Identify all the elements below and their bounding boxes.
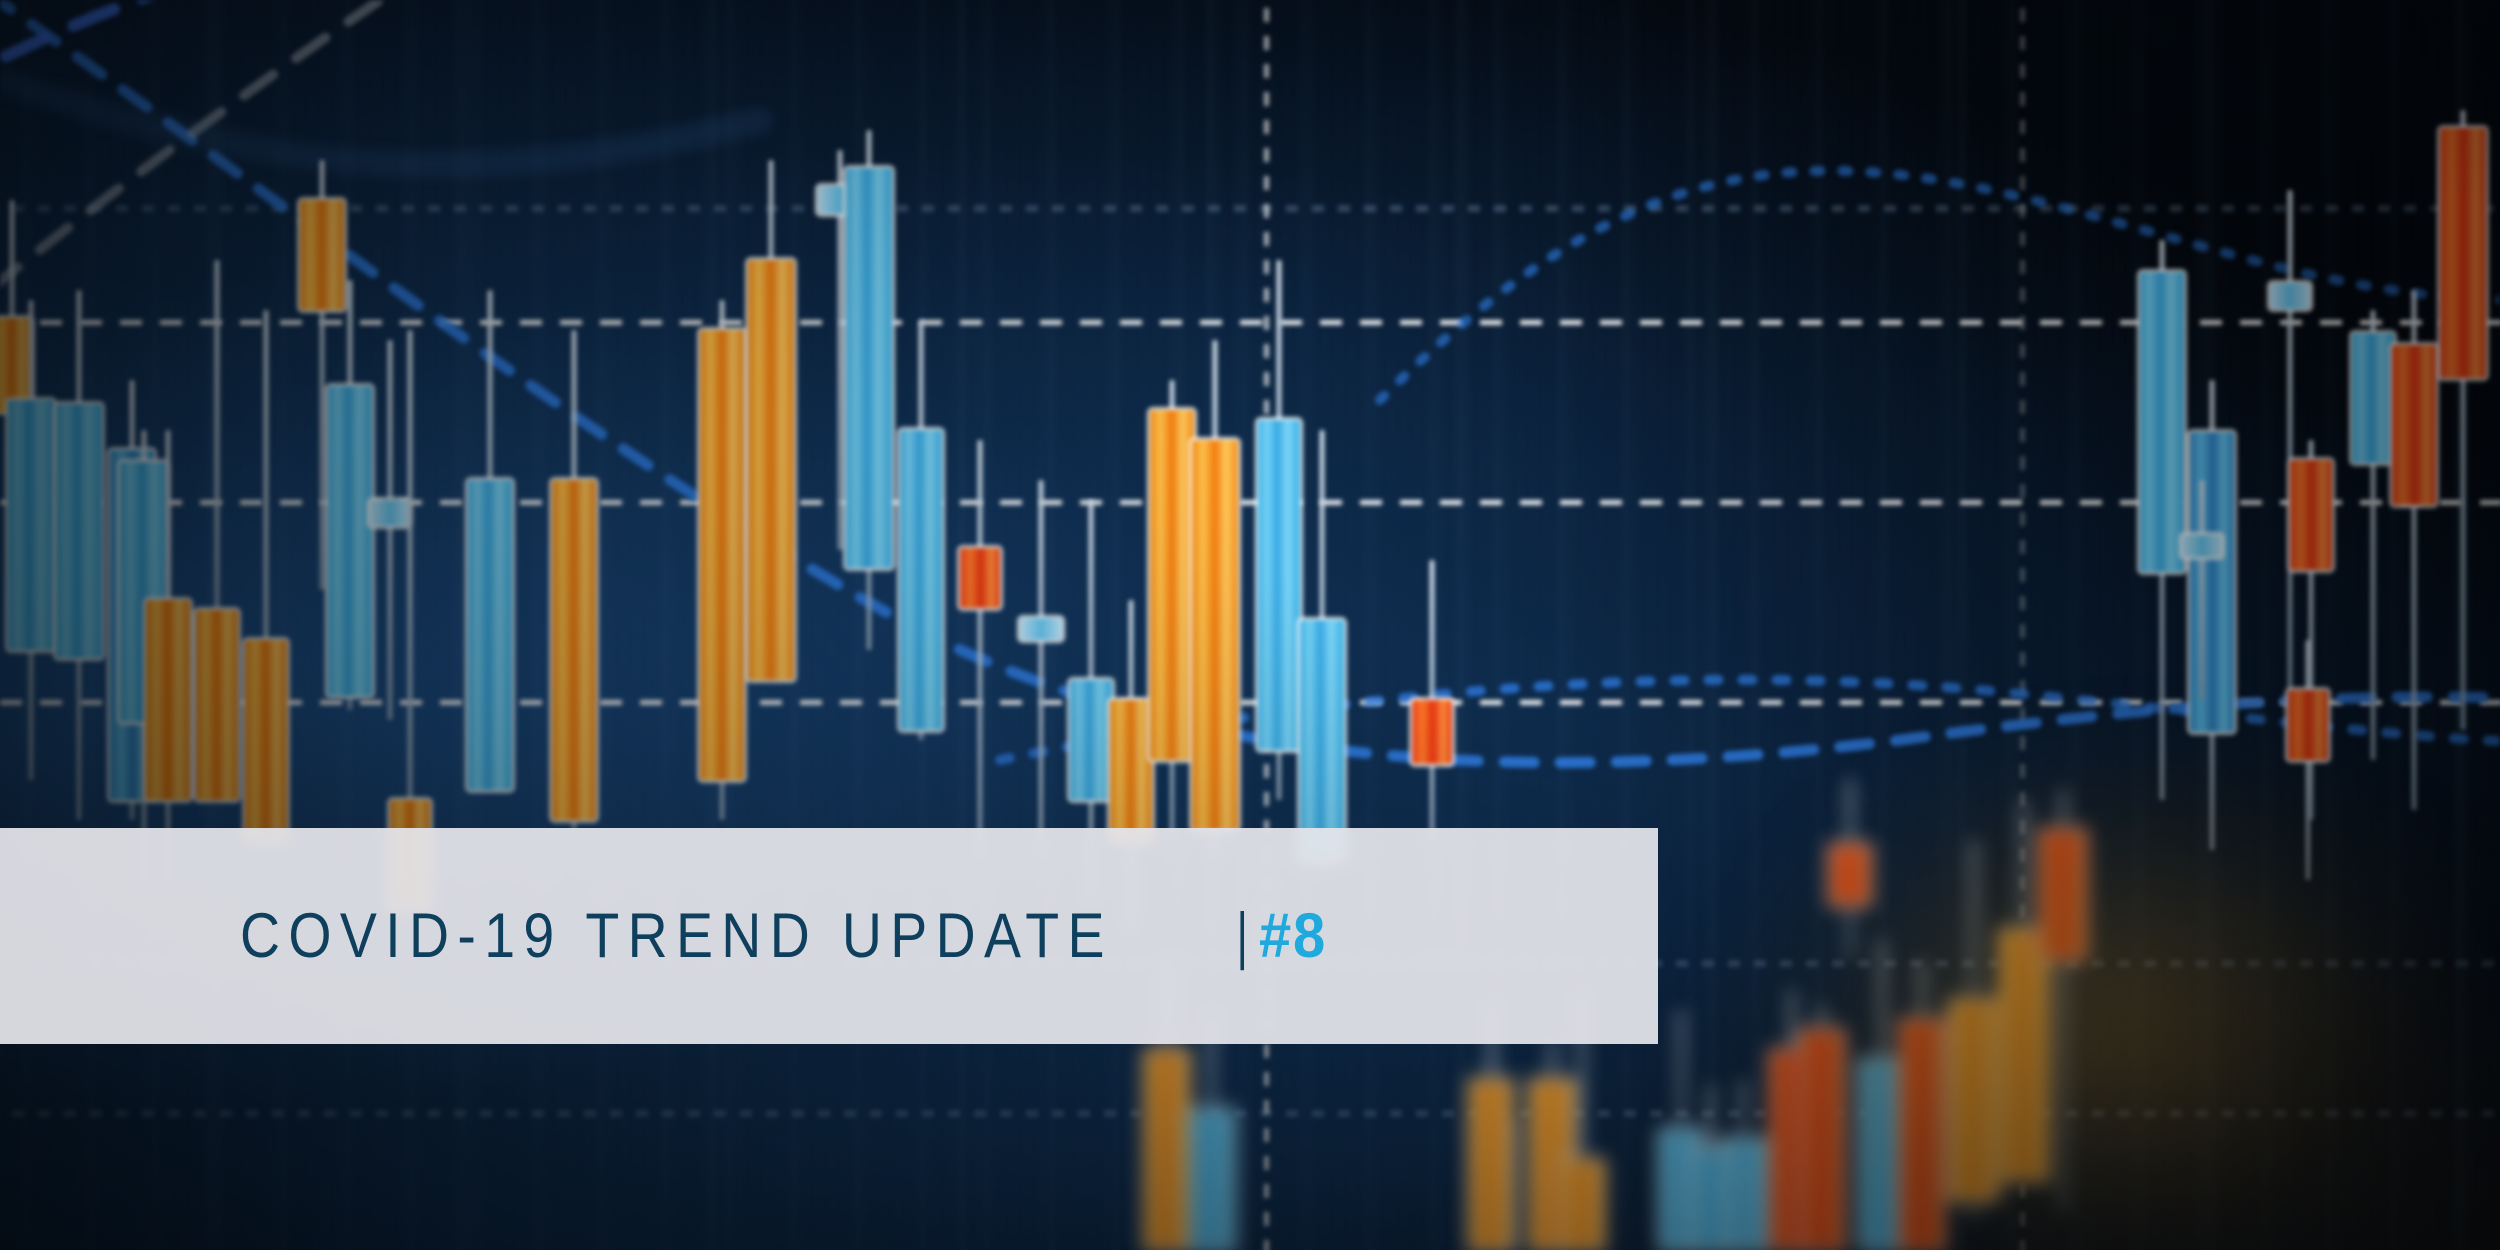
issue-number-badge: #8 (1259, 900, 1327, 972)
candle-body (1950, 1000, 1998, 1200)
title-banner: COVID-19 TREND UPDATE | #8 (0, 828, 1658, 1044)
candle-body (1145, 1050, 1189, 1250)
screenshot-root: COVID-19 TREND UPDATE | #8 (0, 0, 2500, 1250)
candle (1950, 0, 1998, 1250)
title-banner-content: COVID-19 TREND UPDATE | #8 (240, 900, 1330, 972)
background-chart-image (0, 0, 2500, 1250)
candle-body (1690, 1150, 1732, 1250)
candle-body (2040, 830, 2086, 960)
candle-body (1830, 845, 1870, 905)
candle-body (1560, 1160, 1604, 1250)
candle (2040, 0, 2086, 1250)
candle (1190, 0, 1234, 1250)
candle (1830, 0, 1870, 1250)
candle-body (1470, 1080, 1512, 1250)
candle (1690, 0, 1732, 1250)
candle (1145, 0, 1189, 1250)
page-title: COVID-19 TREND UPDATE (240, 900, 1113, 972)
candle (1900, 0, 1944, 1250)
candle (1470, 0, 1512, 1250)
candle-body (1190, 1110, 1234, 1250)
candle-body (1900, 1020, 1944, 1250)
candlestick-group-foreground (0, 0, 2500, 1250)
title-separator: | (1236, 900, 1247, 972)
candle (1560, 0, 1604, 1250)
